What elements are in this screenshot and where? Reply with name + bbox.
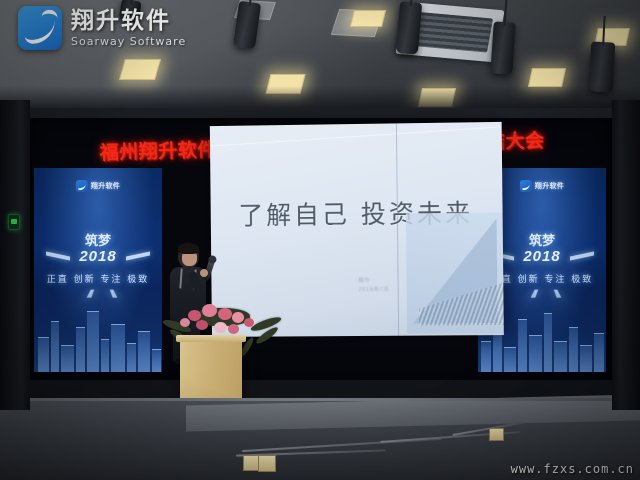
speaker-hand [200, 269, 208, 277]
stage-edge [0, 398, 640, 401]
led-side-panel-left: 翔升软件 筑梦 2018 正直 创新 专注 极致 [34, 168, 162, 372]
screen-seam [396, 123, 399, 335]
speaker-head [178, 243, 199, 268]
side-panel-logo: 翔升软件 [520, 180, 564, 192]
watermark: www.fzxs.com.cn [511, 462, 634, 476]
slide-subtitle-line1: 翔升 [358, 277, 389, 286]
brand-name-english: Soarway Software [71, 36, 186, 47]
side-panel-calligraphy: 筑梦 [34, 230, 162, 249]
spotlight-fixture [396, 1, 422, 55]
city-skyline-graphic [34, 284, 162, 372]
floor-box [258, 455, 276, 472]
side-panel-logo-text: 翔升软件 [91, 181, 120, 191]
podium-top [176, 335, 246, 342]
side-panel-logo-text: 翔升软件 [535, 181, 564, 191]
side-panel-year: 2018 [34, 248, 162, 265]
swoosh-logo-icon [520, 180, 532, 192]
brand-wordmark: 翔升软件 Soarway Software [71, 10, 186, 47]
side-panel-logo: 翔升软件 [76, 180, 120, 192]
speaker-hair [178, 243, 199, 254]
led-video-wall: 福州翔升软件开发有限公司2018上半年度总结大会 翔升软件 筑梦 2018 正直… [28, 118, 612, 380]
spotlight-fixture [589, 41, 616, 92]
brand-name-chinese: 翔升软件 [71, 10, 186, 33]
swoosh-logo-icon [76, 180, 88, 192]
slide-photo [406, 212, 504, 333]
slide-subtitle-line2: 2018年7月 [359, 285, 390, 294]
wall-pillar-right [612, 100, 640, 410]
exit-sign-icon [8, 214, 20, 230]
floor-box [243, 455, 259, 471]
ceiling-panel-light [528, 68, 566, 87]
wall-pillar-left [0, 100, 30, 410]
spotlight-fixture [490, 21, 516, 74]
conference-photo: 福州翔升软件开发有限公司2018上半年度总结大会 翔升软件 筑梦 2018 正直… [0, 0, 640, 480]
ceiling-panel-light [350, 10, 386, 27]
floor-box [489, 428, 504, 441]
brand-logo-overlay: 翔升软件 Soarway Software [18, 6, 186, 50]
slide-subtitle: 翔升 2018年7月 [358, 277, 389, 294]
swoosh-logo-icon [18, 6, 62, 50]
screen-light-streak [210, 126, 501, 146]
ceiling-panel-light [119, 59, 161, 80]
